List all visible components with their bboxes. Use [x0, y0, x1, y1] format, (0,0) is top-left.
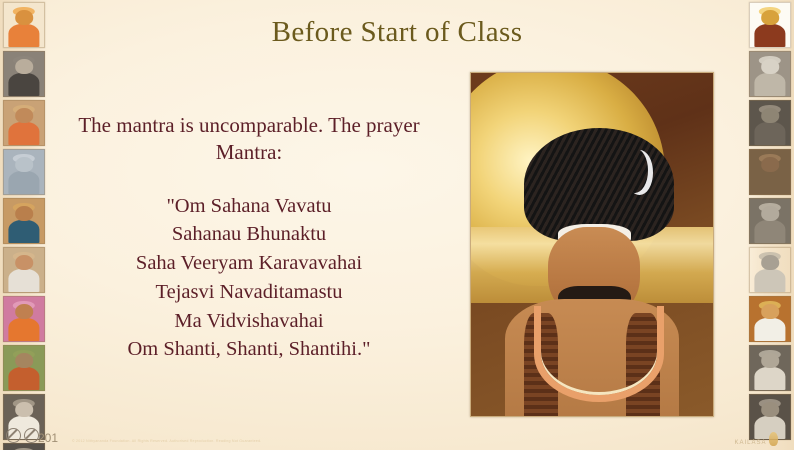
flame-icon	[769, 432, 778, 446]
thumb-body	[754, 318, 785, 341]
thumb-head	[761, 108, 779, 123]
lineage-thumb-13	[749, 149, 791, 195]
thumb-head	[15, 59, 33, 74]
thumb-head	[761, 255, 779, 270]
brand-label: KAILASA	[734, 440, 766, 446]
lineage-thumb-12	[749, 100, 791, 146]
mantra-line: Om Shanti, Shanti, Shantihi."	[58, 335, 440, 364]
mantra-line: Ma Vidvishavahai	[58, 307, 440, 336]
thumb-body	[754, 269, 785, 292]
lineage-thumb-2	[3, 51, 45, 97]
thumb-head	[761, 206, 779, 221]
lineage-thumb-5	[3, 198, 45, 244]
mantra-verse: "Om Sahana VavatuSahanau BhunaktuSaha Ve…	[58, 192, 440, 364]
thumb-head	[15, 402, 33, 417]
left-lineage-rail	[0, 0, 48, 450]
thumb-body	[8, 122, 39, 145]
thumb-head	[761, 157, 779, 172]
thumb-body	[754, 367, 785, 390]
crescent-moon-ornament-icon	[621, 148, 648, 193]
thumb-head	[15, 255, 33, 270]
restriction-icons	[6, 428, 39, 443]
thumb-body	[8, 318, 39, 341]
thumb-head	[761, 304, 779, 319]
mantra-line: Sahanau Bhunaktu	[58, 220, 440, 249]
thumb-head	[15, 206, 33, 221]
temple-deity-thumb	[749, 2, 791, 48]
lineage-thumb-6	[3, 247, 45, 293]
lineage-thumb-7	[3, 296, 45, 342]
no-smoking-icon	[6, 428, 21, 443]
thumb-head	[15, 157, 33, 172]
thumb-body	[8, 73, 39, 96]
thumb-body	[754, 73, 785, 96]
kailasa-brand-logo: KAILASA	[724, 424, 788, 446]
thumb-head	[15, 353, 33, 368]
thumb-head	[761, 59, 779, 74]
thumb-body	[754, 24, 785, 47]
presentation-slide: Before Start of Class The mantra is unco…	[0, 0, 794, 450]
no-photography-icon	[24, 428, 39, 443]
page-number: 201	[38, 431, 58, 445]
right-lineage-rail	[746, 0, 794, 450]
copyright-notice: © 2012 Nithyananda Foundation. All Right…	[72, 439, 261, 443]
thumb-body	[8, 269, 39, 292]
lineage-thumb-15	[749, 247, 791, 293]
lineage-thumb-16	[749, 296, 791, 342]
thumb-body	[8, 220, 39, 243]
lineage-thumb-14	[749, 198, 791, 244]
thumb-body	[754, 122, 785, 145]
thumb-body	[8, 171, 39, 194]
page-title: Before Start of Class	[0, 16, 794, 49]
thumb-head	[761, 402, 779, 417]
thumb-body	[754, 220, 785, 243]
lineage-thumb-4	[3, 149, 45, 195]
lineage-thumb-3	[3, 100, 45, 146]
thumb-head	[761, 10, 779, 25]
slide-footer: 201 © 2012 Nithyananda Foundation. All R…	[0, 420, 794, 450]
thumb-body	[8, 367, 39, 390]
lineage-thumb-8	[3, 345, 45, 391]
mantra-text-block: The mantra is uncomparable. The prayer M…	[58, 112, 440, 364]
thumb-head	[15, 108, 33, 123]
thumb-body	[754, 171, 785, 194]
lineage-thumb-17	[749, 345, 791, 391]
mantra-line: Saha Veeryam Karavavahai	[58, 249, 440, 278]
lead-paragraph: The mantra is uncomparable. The prayer M…	[58, 112, 440, 166]
guru-portrait-photo	[470, 72, 714, 417]
mantra-line: Tejasvi Navaditamastu	[58, 278, 440, 307]
mantra-line: "Om Sahana Vavatu	[58, 192, 440, 221]
flower-garland	[534, 306, 664, 402]
lineage-thumb-11	[749, 51, 791, 97]
thumb-head	[15, 304, 33, 319]
thumb-head	[761, 353, 779, 368]
